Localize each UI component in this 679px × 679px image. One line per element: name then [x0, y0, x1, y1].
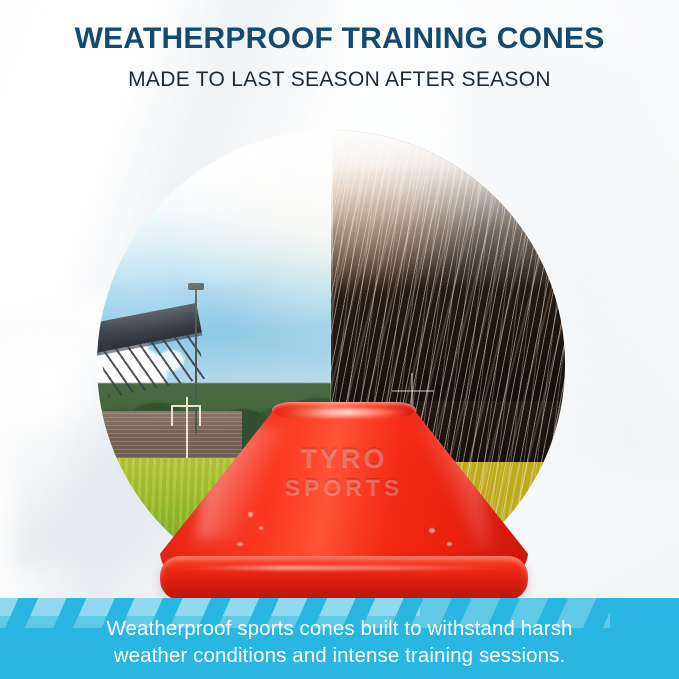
cone-base-highlight: [182, 566, 506, 570]
cone-base: [160, 556, 528, 600]
caption-line-1: Weatherproof sports cones built to withs…: [0, 615, 679, 642]
caption-text: Weatherproof sports cones built to withs…: [0, 615, 679, 670]
product-infographic: WEATHERPROOF TRAINING CONES MADE TO LAST…: [0, 0, 679, 679]
sun-glow: [179, 130, 331, 392]
diagonal-stripes-decoration: [0, 598, 420, 616]
brand-line-2: SPORTS: [160, 474, 528, 500]
header: WEATHERPROOF TRAINING CONES MADE TO LAST…: [0, 22, 679, 91]
red-training-cone: TYRO SPORTS: [160, 405, 528, 600]
cone-top-shine: [285, 409, 410, 416]
brand-line-1: TYRO: [160, 443, 528, 474]
water-droplet: [237, 542, 243, 546]
page-title: WEATHERPROOF TRAINING CONES: [0, 22, 679, 55]
caption-line-2: weather conditions and intense training …: [0, 642, 679, 669]
page-subtitle: MADE TO LAST SEASON AFTER SEASON: [0, 68, 679, 91]
cone-embossed-brand: TYRO SPORTS: [160, 443, 528, 500]
water-droplet: [447, 542, 452, 546]
caption-band: Weatherproof sports cones built to withs…: [0, 598, 679, 679]
water-droplet: [429, 528, 435, 533]
